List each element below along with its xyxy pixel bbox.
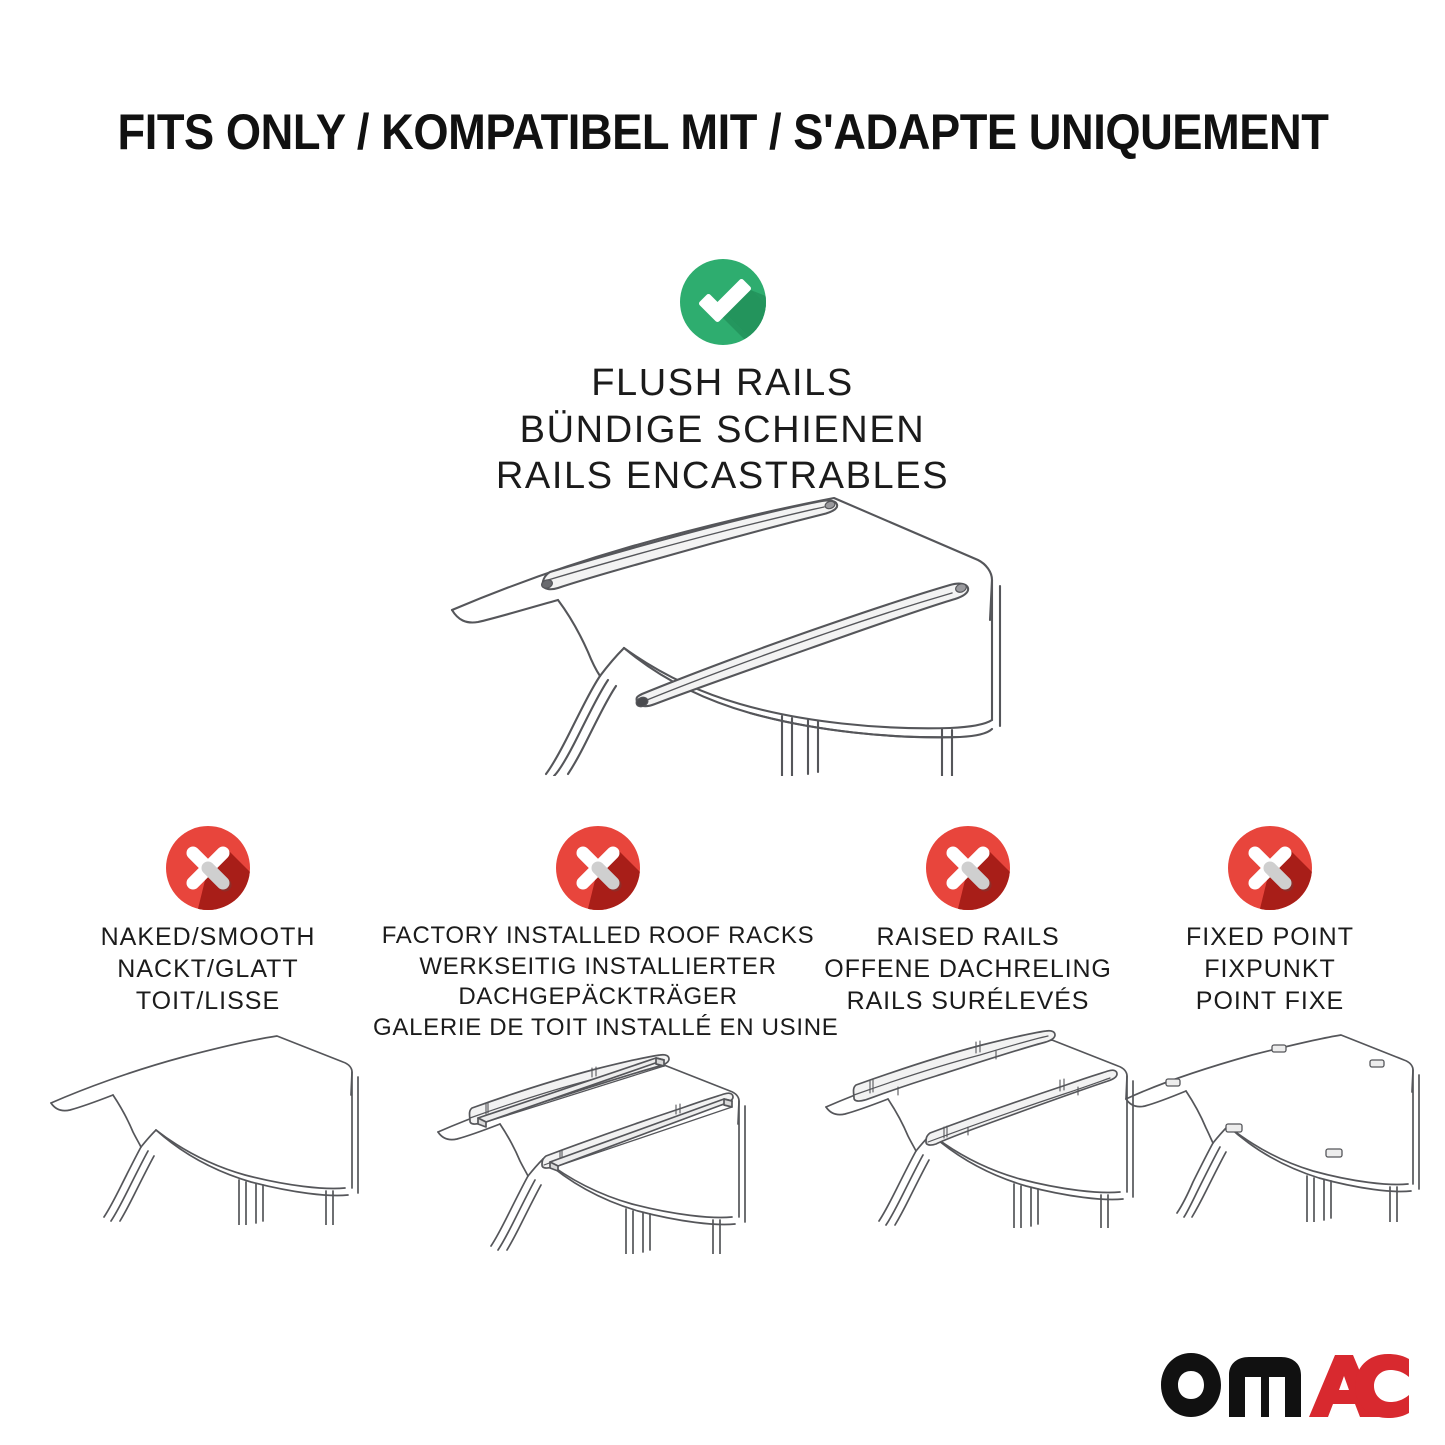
incompatible-labels: NAKED/SMOOTH NACKT/GLATT TOIT/LISSE bbox=[38, 921, 378, 1017]
car-roof-naked-smooth-illustration bbox=[38, 1025, 378, 1240]
page-title: FITS ONLY / KOMPATIBEL MIT / S'ADAPTE UN… bbox=[0, 103, 1445, 161]
compatibility-infographic: FITS ONLY / KOMPATIBEL MIT / S'ADAPTE UN… bbox=[0, 0, 1445, 1445]
label-fr: RAILS SURÉLEVÉS bbox=[818, 985, 1118, 1017]
compatible-label-en: FLUSH RAILS bbox=[0, 360, 1445, 407]
label-de: OFFENE DACHRELING bbox=[818, 953, 1118, 985]
incompatible-item-factory-installed-roof-racks: FACTORY INSTALLED ROOF RACKS WERKSEITIG … bbox=[373, 825, 823, 1259]
label-fr: GALERIE DE TOIT INSTALLÉ EN USINE bbox=[373, 1013, 823, 1044]
incompatible-section: NAKED/SMOOTH NACKT/GLATT TOIT/LISSE bbox=[0, 825, 1445, 1245]
incompatible-labels: RAISED RAILS OFFENE DACHRELING RAILS SUR… bbox=[818, 921, 1118, 1017]
label-de: FIXPUNKT bbox=[1120, 953, 1420, 985]
red-x-circle-icon bbox=[555, 825, 641, 911]
incompatible-labels: FACTORY INSTALLED ROOF RACKS WERKSEITIG … bbox=[373, 921, 823, 1044]
label-de-1: WERKSEITIG INSTALLIERTER bbox=[373, 952, 823, 983]
incompatible-item-naked-smooth: NAKED/SMOOTH NACKT/GLATT TOIT/LISSE bbox=[38, 825, 378, 1240]
red-x-circle-icon bbox=[1227, 825, 1313, 911]
car-roof-with-flush-rails-illustration bbox=[430, 476, 1030, 776]
car-roof-factory-roof-racks-illustration bbox=[373, 1044, 823, 1259]
label-de-2: DACHGEPÄCKTRÄGER bbox=[373, 982, 823, 1013]
omac-logo bbox=[1159, 1351, 1409, 1419]
red-x-circle-icon bbox=[925, 825, 1011, 911]
compatible-section: FLUSH RAILS BÜNDIGE SCHIENEN RAILS ENCAS… bbox=[0, 258, 1445, 500]
label-en: RAISED RAILS bbox=[818, 921, 1118, 953]
page-title-text: FITS ONLY / KOMPATIBEL MIT / S'ADAPTE UN… bbox=[117, 103, 1328, 161]
car-roof-fixed-point-illustration bbox=[1120, 1027, 1420, 1242]
incompatible-labels: FIXED POINT FIXPUNKT POINT FIXE bbox=[1120, 921, 1420, 1017]
green-check-circle-icon bbox=[679, 258, 767, 346]
label-en: FIXED POINT bbox=[1120, 921, 1420, 953]
red-x-circle-icon bbox=[165, 825, 251, 911]
incompatible-item-raised-rails: RAISED RAILS OFFENE DACHRELING RAILS SUR… bbox=[818, 825, 1118, 1238]
label-en: NAKED/SMOOTH bbox=[38, 921, 378, 953]
incompatible-item-fixed-point: FIXED POINT FIXPUNKT POINT FIXE bbox=[1120, 825, 1420, 1242]
label-fr: TOIT/LISSE bbox=[38, 985, 378, 1017]
label-en: FACTORY INSTALLED ROOF RACKS bbox=[373, 921, 823, 952]
label-fr: POINT FIXE bbox=[1120, 985, 1420, 1017]
car-roof-raised-rails-illustration bbox=[818, 1023, 1118, 1238]
label-de: NACKT/GLATT bbox=[38, 953, 378, 985]
compatible-label-de: BÜNDIGE SCHIENEN bbox=[0, 407, 1445, 454]
